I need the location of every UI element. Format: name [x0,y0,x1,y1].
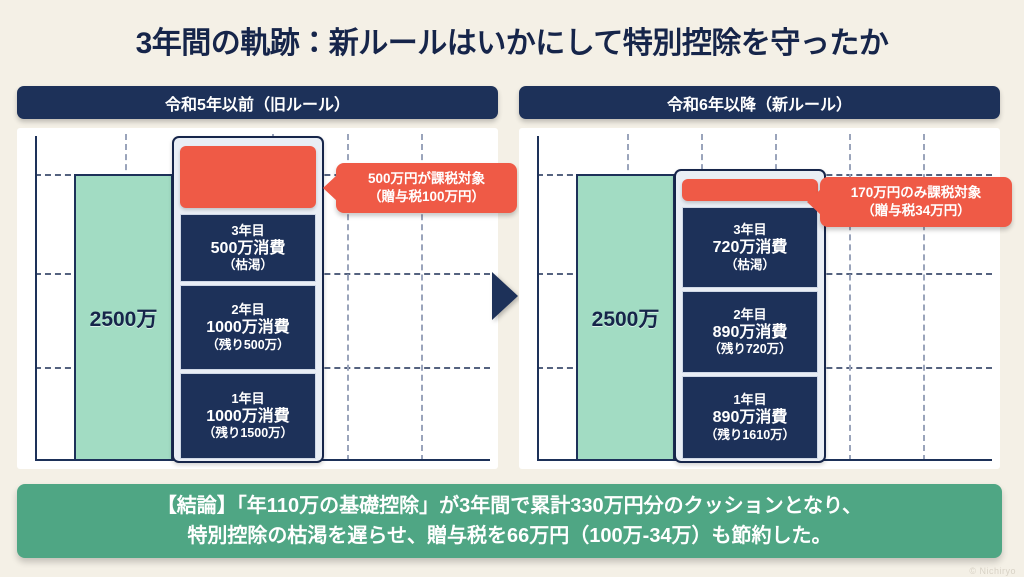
callout-line-1: 170万円のみ課税対象 [830,184,1002,202]
callout-taxable-old: 500万円が課税対象 （贈与税100万円） [336,163,517,213]
year-label: 3年目 [231,223,264,239]
bar-special-deduction-old: 2500万 [74,174,173,461]
right-triangle-arrow-icon [492,272,518,320]
block-taxable-amount-new [682,179,818,201]
conclusion-banner: 【結論】「年110万の基礎控除」が3年間で累計330万円分のクッションとなり、 … [17,484,1002,558]
watermark: © Nichiryo [969,566,1016,576]
year-remaining: （残り720万） [708,342,791,357]
year-remaining: （枯渇） [725,258,775,273]
panel-header-old-rule: 令和5年以前（旧ルール） [17,86,498,119]
year-amount: 1000万消費 [206,318,290,338]
year-remaining: （残り500万） [206,338,289,353]
year-remaining: （枯渇） [223,258,273,273]
y-axis [35,136,37,461]
callout-line-2: （贈与税100万円） [346,188,507,206]
year-amount: 500万消費 [211,239,286,259]
panel-old-rule: 令和5年以前（旧ルール） 2500万 3年目 500万消費 （枯渇） [17,86,498,469]
panel-header-new-rule: 令和6年以降（新ルール） [519,86,1000,119]
bar-special-deduction-new: 2500万 [576,174,675,461]
year-label: 2年目 [733,307,766,323]
panel-new-rule: 令和6年以降（新ルール） 2500万 3年目 720万消費 （枯渇） [519,86,1000,469]
year-remaining: （残り1610万） [705,428,795,443]
year-label: 1年目 [733,392,766,408]
block-year1-new: 1年目 890万消費 （残り1610万） [682,376,818,459]
block-year2-new: 2年目 890万消費 （残り720万） [682,291,818,373]
year-label: 3年目 [733,222,766,238]
block-year2-old: 2年目 1000万消費 （残り500万） [180,285,316,370]
year-amount: 890万消費 [713,323,788,343]
page-title: 3年間の軌跡：新ルールはいかにして特別控除を守ったか [0,18,1024,62]
block-taxable-amount-old [180,146,316,208]
year-label: 1年目 [231,391,264,407]
bar-value-label: 2500万 [90,303,158,333]
callout-taxable-new: 170万円のみ課税対象 （贈与税34万円） [820,177,1012,227]
year-amount: 890万消費 [713,408,788,428]
stack-gift-consumption-new: 3年目 720万消費 （枯渇） 2年目 890万消費 （残り720万） 1年目 … [674,169,826,463]
year-amount: 720万消費 [713,238,788,258]
callout-line-2: （贈与税34万円） [830,202,1002,220]
conclusion-line-2: 特別控除の枯渇を遅らせ、贈与税を66万円（100万-34万）も節約した。 [187,521,831,551]
year-label: 2年目 [231,302,264,318]
bar-value-label: 2500万 [592,303,660,333]
block-year3-new: 3年目 720万消費 （枯渇） [682,207,818,288]
year-amount: 1000万消費 [206,407,290,427]
block-year1-old: 1年目 1000万消費 （残り1500万） [180,373,316,459]
y-axis [537,136,539,461]
stack-gift-consumption-old: 3年目 500万消費 （枯渇） 2年目 1000万消費 （残り500万） 1年目… [172,136,324,463]
callout-line-1: 500万円が課税対象 [346,170,507,188]
conclusion-line-1: 【結論】「年110万の基礎控除」が3年間で累計330万円分のクッションとなり、 [157,491,862,521]
year-remaining: （残り1500万） [203,426,293,441]
block-year3-old: 3年目 500万消費 （枯渇） [180,214,316,282]
